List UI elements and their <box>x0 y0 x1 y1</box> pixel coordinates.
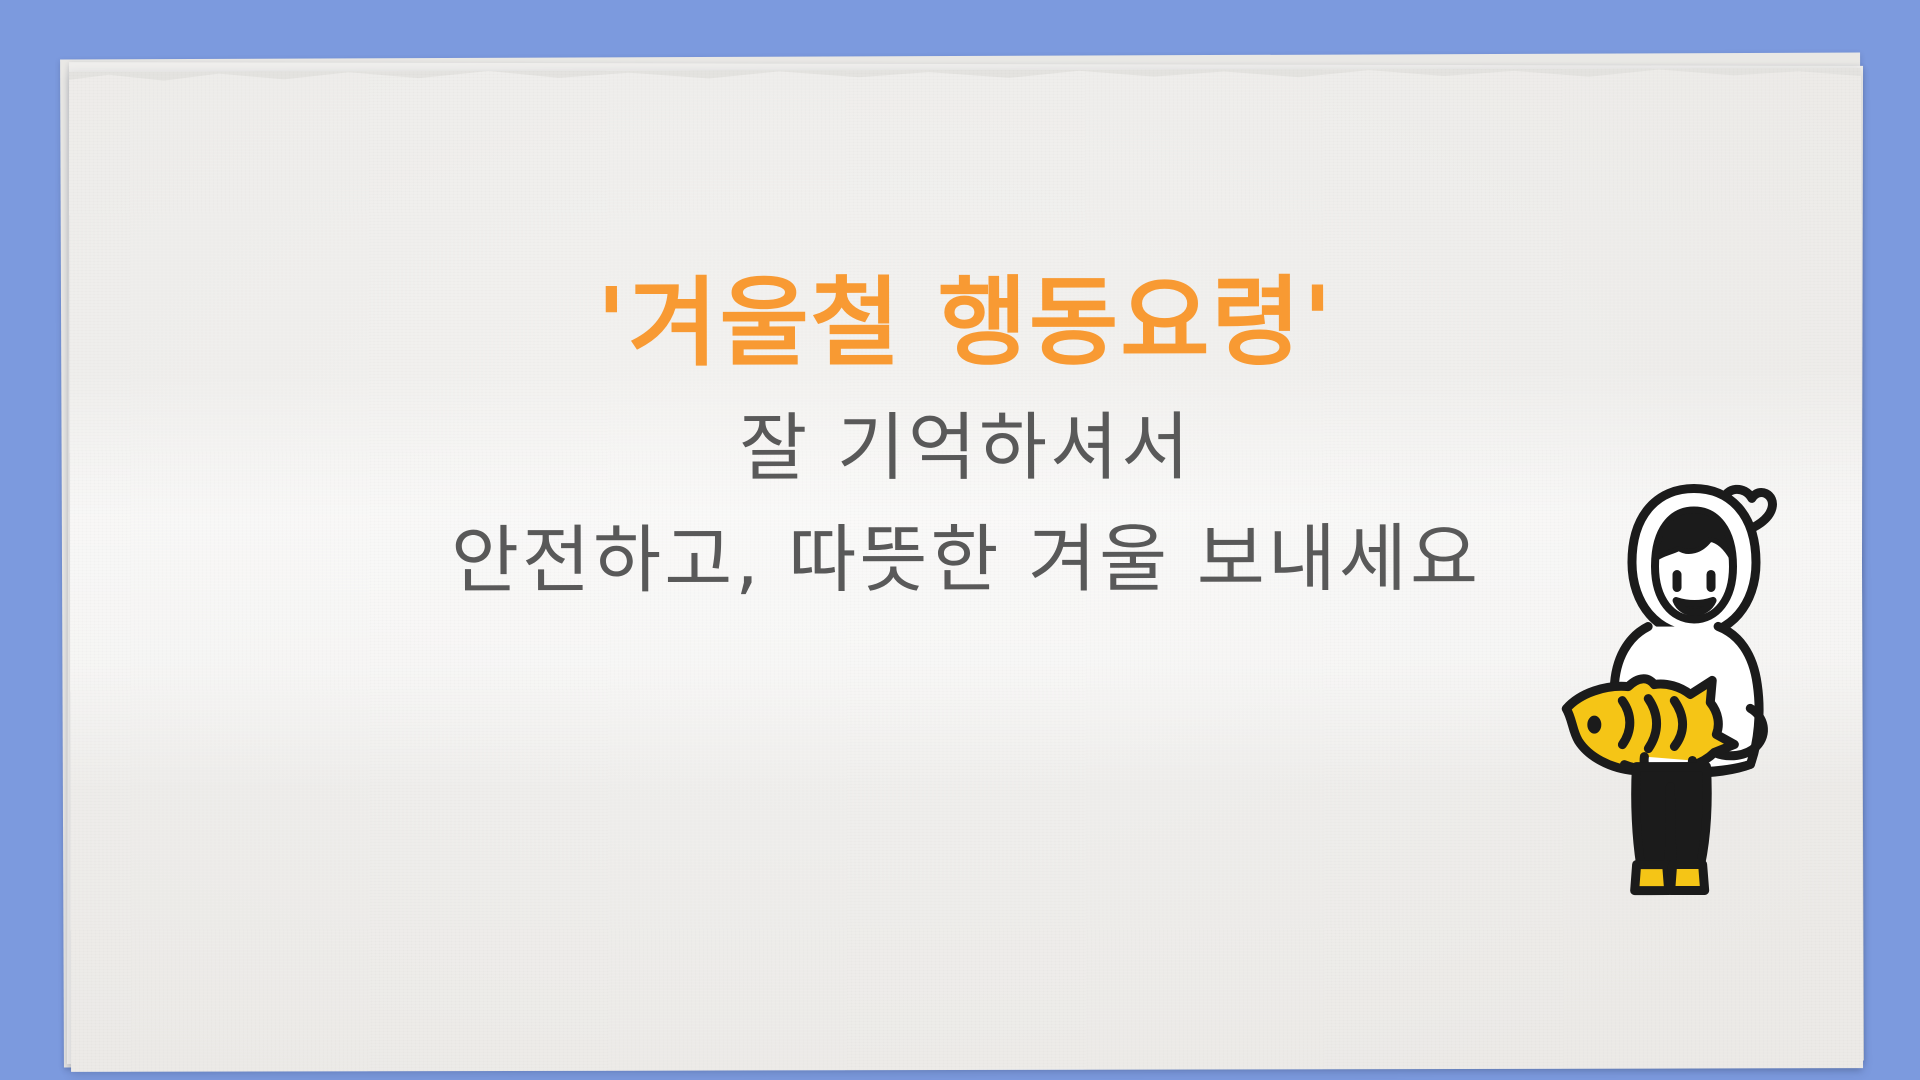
page-title: '겨울철 행동요령' <box>69 264 1861 382</box>
boot-right <box>1671 864 1705 890</box>
pants <box>1636 766 1708 864</box>
paper-page: '겨울철 행동요령' 잘 기억하셔서 안전하고, 따뜻한 겨울 보내세요 <box>69 68 1863 1072</box>
torn-paper-edge <box>69 68 1861 88</box>
mouth <box>1676 600 1713 612</box>
slide-canvas: '겨울철 행동요령' 잘 기억하셔서 안전하고, 따뜻한 겨울 보내세요 <box>0 0 1920 1080</box>
winter-character-svg <box>1536 450 1837 921</box>
paper-stack: '겨울철 행동요령' 잘 기억하셔서 안전하고, 따뜻한 겨울 보내세요 <box>52 56 1868 1066</box>
boot-left <box>1635 865 1669 891</box>
winter-character-illustration <box>1536 450 1837 921</box>
